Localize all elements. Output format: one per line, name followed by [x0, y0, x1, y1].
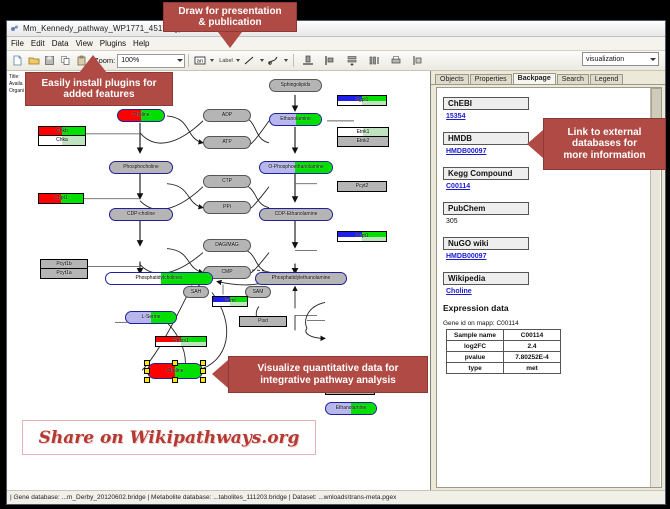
chevron-down-icon	[650, 58, 656, 61]
gene-group-pcyt1[interactable]: Pcyt1b Pcyt1a	[40, 259, 88, 279]
node-label: Ethanolamine	[336, 406, 367, 411]
node-label: CDP-choline	[127, 212, 155, 217]
visualization-select[interactable]: visualization	[582, 52, 659, 66]
node-label: Pisd	[258, 319, 268, 324]
gene-sgpl1[interactable]: Sgpl1	[337, 95, 387, 106]
node-label: DAG/MAG	[215, 243, 239, 248]
save-icon[interactable]	[42, 53, 57, 68]
title-bar: Mm_Kennedy_pathway_WP1771_45176.gpml	[7, 21, 665, 37]
gene-id-line: Gene id on mapp: C00114	[443, 320, 661, 327]
node-ctp[interactable]: CTP	[203, 175, 251, 188]
node-label: L-Serine	[142, 315, 161, 320]
screenshot-root: Mm_Kennedy_pathway_WP1771_45176.gpml Fil…	[0, 0, 670, 509]
callout-plugins: Easily install plugins for added feature…	[25, 72, 173, 106]
db-link-kegg-compound[interactable]: C00114	[446, 183, 661, 190]
chevron-down-icon[interactable]	[260, 59, 264, 62]
db-header-hmdb: HMDB	[443, 132, 529, 145]
node-ethanolamine-bottom[interactable]: Ethanolamine	[325, 402, 377, 415]
node-label: SAM	[253, 290, 264, 295]
align-left-icon[interactable]	[323, 53, 338, 68]
table-row: Sample name C00114	[447, 330, 561, 341]
selection-handle[interactable]	[172, 377, 178, 383]
callout-draw: Draw for presentation & publication	[163, 2, 297, 32]
table-cell-value: 7.80252E-4	[504, 352, 561, 363]
node-label: Pemt	[224, 299, 236, 304]
gene-chkb[interactable]: Chkb	[39, 127, 85, 136]
svg-text:an: an	[196, 59, 203, 65]
menu-item-view[interactable]: View	[76, 39, 93, 48]
align-bottom-icon[interactable]	[301, 53, 316, 68]
tab-backpage[interactable]: Backpage	[513, 73, 556, 84]
node-label: Phosphatidylethanolamine	[272, 276, 331, 281]
node-label: Cept1	[355, 234, 368, 239]
callout-links-arrow-icon	[527, 130, 543, 158]
new-icon[interactable]	[10, 53, 25, 68]
gene-etnk2[interactable]: Etnk2	[338, 137, 388, 146]
callout-visualize-arrow-icon	[212, 360, 228, 388]
callout-share: Share on Wikipathways.org	[22, 420, 316, 455]
node-label: Ethanolamine	[280, 117, 311, 122]
node-o-phosphoethanolamine[interactable]: O-Phosphoethanolamine	[259, 161, 333, 174]
db-header-nugo-wiki: NuGO wiki	[443, 237, 529, 250]
node-label: Choline	[167, 369, 184, 374]
gene-chka[interactable]: Chka	[39, 136, 85, 145]
gene-ptdss1[interactable]: Ptdss1	[155, 336, 207, 347]
selection-handle[interactable]	[144, 360, 150, 366]
chevron-down-icon[interactable]	[210, 59, 214, 62]
node-label: Chpt1	[54, 196, 67, 201]
gene-pcyt1a[interactable]: Pcyt1a	[41, 269, 87, 278]
print-icon[interactable]	[389, 53, 404, 68]
canvas-meta-labels: Title: Availa Organi	[9, 74, 24, 95]
gene-etnk1[interactable]: Etnk1	[338, 128, 388, 137]
panel-tabs: Objects Properties Backpage Search Legen…	[431, 71, 665, 85]
tab-search[interactable]: Search	[557, 74, 589, 84]
node-label: ADP	[222, 113, 232, 118]
node-label: O-Phosphoethanolamine	[268, 165, 323, 170]
node-label: Chkb	[56, 129, 68, 134]
menu-item-edit[interactable]: Edit	[31, 39, 45, 48]
selection-handle[interactable]	[144, 368, 150, 374]
table-cell-key: pvalue	[447, 352, 504, 363]
distribute-icon[interactable]	[367, 53, 382, 68]
visualization-value: visualization	[586, 56, 624, 63]
menu-item-help[interactable]: Help	[133, 39, 149, 48]
order-icon[interactable]	[411, 53, 426, 68]
node-label: Phosphatidylcholines	[136, 276, 183, 281]
node-sah[interactable]: SAH	[183, 286, 209, 298]
chevron-down-icon	[177, 59, 183, 62]
node-atp[interactable]: ATP	[203, 136, 251, 149]
menu-item-file[interactable]: File	[11, 39, 24, 48]
callout-draw-arrow-icon	[218, 32, 242, 48]
node-label: Pcyt1a	[56, 271, 71, 276]
node-label: SAH	[191, 290, 201, 295]
text-label-icon[interactable]: an	[192, 53, 207, 68]
status-bar: | Gene database: ...m_Derby_20120602.bri…	[7, 490, 665, 504]
table-cell-key: log2FC	[447, 341, 504, 352]
node-cdp-ethanolamine[interactable]: CDP-Ethanolamine	[259, 208, 333, 221]
gene-chpt1[interactable]: Chpt1	[38, 193, 84, 204]
callout-draw-line2: & publication	[198, 17, 261, 29]
table-cell-value: met	[504, 363, 561, 374]
callout-links: Link to external databases for more info…	[543, 118, 666, 170]
node-label: Pcyt1b	[56, 262, 71, 267]
node-choline-top[interactable]: Choline	[117, 109, 165, 122]
gene-group-chk[interactable]: Chkb Chka	[38, 126, 86, 146]
node-label: Etnk2	[357, 139, 370, 144]
selection-handle[interactable]	[200, 377, 206, 383]
callout-links-line3: more information	[563, 150, 645, 162]
gene-cept1[interactable]: Cept1	[337, 231, 387, 242]
table-cell-key: type	[447, 363, 504, 374]
node-l-serine-left[interactable]: L-Serine	[125, 311, 177, 324]
chevron-down-icon[interactable]	[236, 59, 240, 62]
node-adp[interactable]: ADP	[203, 109, 251, 122]
stack-center-icon[interactable]	[345, 53, 360, 68]
tab-properties[interactable]: Properties	[470, 74, 512, 84]
toolbar-separator	[293, 54, 294, 67]
expression-data-heading: Expression data	[443, 303, 661, 313]
status-text: | Gene database: ...m_Derby_20120602.bri…	[10, 494, 396, 501]
line-tool-icon[interactable]	[242, 53, 257, 68]
node-label: CTP	[222, 179, 232, 184]
selection-handle[interactable]	[200, 360, 206, 366]
node-label: Pcyt2	[356, 184, 369, 189]
gene-pcyt2[interactable]: Pcyt2	[337, 181, 387, 192]
node-label: CDP-Ethanolamine	[275, 212, 318, 217]
callout-visualize-line2: integrative pathway analysis	[260, 375, 396, 387]
zoom-select[interactable]: 100%	[117, 54, 185, 68]
table-cell-value: C00114	[504, 330, 561, 341]
copy-icon[interactable]	[58, 53, 73, 68]
db-header-kegg-compound: Kegg Compound	[443, 167, 529, 180]
selection-handle[interactable]	[144, 377, 150, 383]
app-icon	[10, 24, 19, 33]
callout-draw-line1: Draw for presentation	[178, 6, 281, 18]
toolbar-separator	[188, 54, 189, 67]
selected-node-group[interactable]: Choline	[147, 363, 203, 379]
node-label: Ptdss1	[173, 339, 188, 344]
tab-objects[interactable]: Objects	[435, 74, 469, 84]
table-row: type met	[447, 363, 561, 374]
callout-visualize-line1: Visualize quantitative data for	[258, 363, 399, 375]
db-header-pubchem: PubChem	[443, 202, 529, 215]
db-link-wikipedia[interactable]: Choline	[446, 288, 661, 295]
node-dag-mag[interactable]: DAG/MAG	[203, 239, 251, 252]
node-ethanolamine-top[interactable]: Ethanolamine	[269, 113, 322, 126]
meta-title-label: Title:	[9, 74, 24, 81]
node-phosphocholine[interactable]: Phosphocholine	[109, 161, 173, 174]
callout-plugins-line2: added features	[63, 89, 134, 101]
callout-share-text: Share on Wikipathways.org	[39, 428, 300, 448]
menu-item-data[interactable]: Data	[52, 39, 69, 48]
gene-pisd[interactable]: Pisd	[239, 316, 287, 327]
gene-group-etnk[interactable]: Etnk1 Etnk2	[337, 127, 389, 147]
node-label: Etnk1	[357, 130, 370, 135]
node-label: Sgpl1	[356, 98, 369, 103]
table-cell-key: Sample name	[447, 330, 504, 341]
node-label: PPi	[223, 205, 231, 210]
node-label: Phosphocholine	[123, 165, 159, 170]
zoom-value: 100%	[121, 57, 139, 64]
node-phosphatidylethanolamine[interactable]: Phosphatidylethanolamine	[255, 272, 347, 285]
tab-legend[interactable]: Legend	[590, 74, 623, 84]
node-ppi[interactable]: PPi	[203, 201, 251, 214]
chevron-down-icon[interactable]	[284, 59, 288, 62]
db-value-pubchem: 305	[446, 218, 661, 225]
meta-organism-label: Organi	[9, 88, 24, 95]
node-sam[interactable]: SAM	[245, 286, 271, 298]
node-label: Choline	[133, 113, 150, 118]
db-link-nugo-wiki[interactable]: HMDB00097	[446, 253, 661, 260]
gene-pcyt1b[interactable]: Pcyt1b	[41, 260, 87, 269]
callout-plugins-arrow-icon	[79, 55, 107, 73]
node-sphingolipids[interactable]: Sphingolipids	[269, 79, 322, 92]
callout-links-line2: databases for	[572, 138, 637, 150]
selection-handle[interactable]	[172, 360, 178, 366]
node-label: Chka	[56, 138, 68, 143]
table-row: pvalue 7.80252E-4	[447, 352, 561, 363]
gene-pemt[interactable]: Pemt	[212, 296, 248, 307]
callout-visualize: Visualize quantitative data for integrat…	[228, 356, 428, 393]
table-cell-value: 2.4	[504, 341, 561, 352]
selection-handle[interactable]	[200, 368, 206, 374]
open-icon[interactable]	[26, 53, 41, 68]
node-cdp-choline[interactable]: CDP-choline	[109, 208, 173, 221]
node-phosphatidylcholines[interactable]: Phosphatidylcholines	[105, 272, 213, 285]
label-tool-label: Label	[219, 58, 232, 64]
table-row: log2FC 2.4	[447, 341, 561, 352]
db-header-wikipedia: Wikipedia	[443, 272, 529, 285]
menu-bar: File Edit Data View Plugins Help	[7, 37, 665, 51]
node-label: CMP	[221, 270, 232, 275]
expression-table: Sample name C00114 log2FC 2.4 pvalue 7.8…	[446, 329, 561, 374]
node-label: Sphingolipids	[281, 83, 311, 88]
interaction-tool-icon[interactable]	[266, 53, 281, 68]
meta-available-label: Availa	[9, 81, 24, 88]
db-header-chebi: ChEBI	[443, 97, 529, 110]
menu-item-plugins[interactable]: Plugins	[100, 39, 126, 48]
callout-links-line1: Link to external	[568, 127, 642, 139]
callout-plugins-line1: Easily install plugins for	[41, 78, 156, 90]
node-label: ATP	[222, 140, 231, 145]
